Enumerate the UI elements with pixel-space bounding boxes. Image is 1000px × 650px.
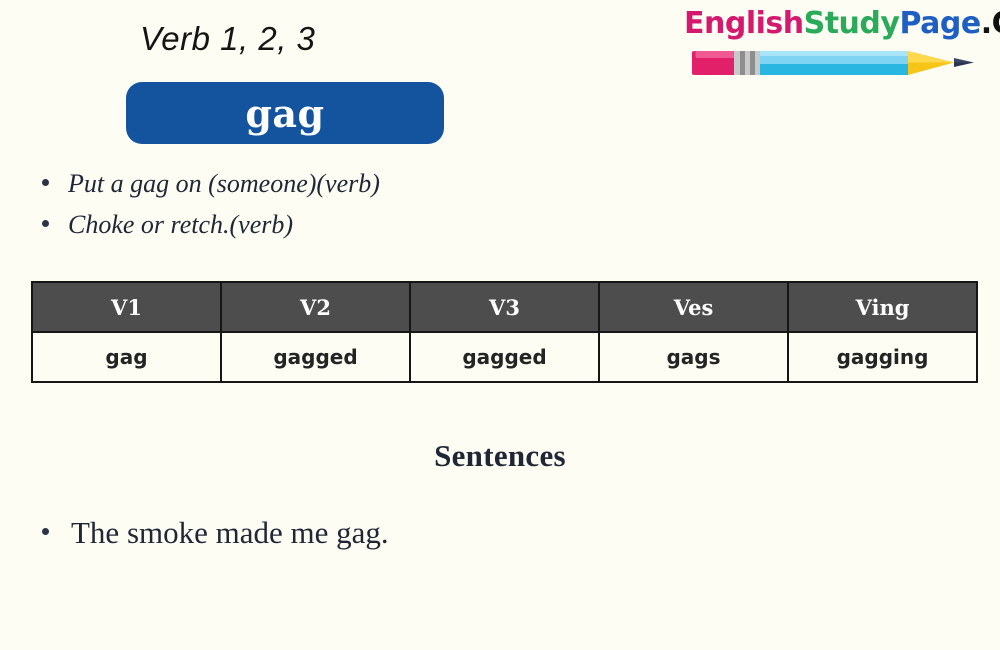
logo-segment-page: Page (899, 6, 980, 41)
meaning-text: Put a gag on (someone)(verb) (68, 168, 380, 201)
cell-v1: gag (32, 332, 221, 382)
cell-v3: gagged (410, 332, 599, 382)
table-header-row: V1 V2 V3 Ves Ving (32, 282, 977, 332)
logo-segment-com: .Com (981, 6, 1000, 41)
verb-word-label: gag (245, 91, 324, 136)
meaning-text: Choke or retch.(verb) (68, 209, 293, 242)
cell-ves: gags (599, 332, 788, 382)
column-header-v3: V3 (410, 282, 599, 332)
sentence-text: The smoke made me gag. (71, 514, 389, 551)
sentence-list: The smoke made me gag. (42, 514, 842, 557)
bullet-icon (42, 220, 49, 227)
column-header-v1: V1 (32, 282, 221, 332)
sentences-heading: Sentences (0, 438, 1000, 474)
pencil-icon-wrapper (684, 45, 984, 81)
table-row: gag gagged gagged gags gagging (32, 332, 977, 382)
column-header-ving: Ving (788, 282, 977, 332)
pencil-icon (692, 45, 977, 81)
verb-forms-table: V1 V2 V3 Ves Ving gag gagged gagged gags… (31, 281, 978, 383)
site-logo: EnglishStudyPage.Com (684, 8, 984, 81)
meaning-list: Put a gag on (someone)(verb) Choke or re… (42, 168, 642, 249)
column-header-ves: Ves (599, 282, 788, 332)
logo-wordmark: EnglishStudyPage.Com (684, 8, 984, 40)
list-item: Choke or retch.(verb) (42, 209, 642, 242)
list-item: Put a gag on (someone)(verb) (42, 168, 642, 201)
logo-segment-english: English (684, 6, 804, 41)
bullet-icon (42, 179, 49, 186)
column-header-v2: V2 (221, 282, 410, 332)
list-item: The smoke made me gag. (42, 514, 842, 551)
verb-word-badge: gag (126, 82, 444, 144)
bullet-icon (42, 528, 49, 535)
logo-segment-study: Study (804, 6, 900, 41)
cell-v2: gagged (221, 332, 410, 382)
cell-ving: gagging (788, 332, 977, 382)
page-title: Verb 1, 2, 3 (140, 20, 315, 58)
